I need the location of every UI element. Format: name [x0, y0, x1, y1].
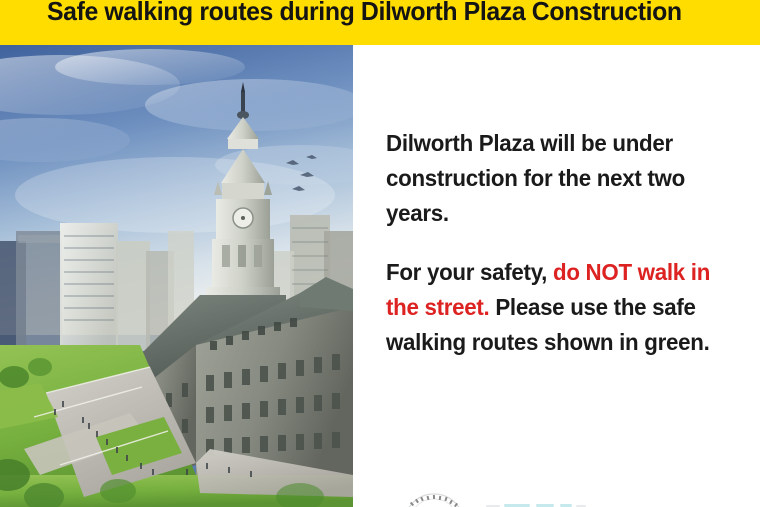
paragraph-safety-notice: For your safety, do NOT walk in the stre…: [386, 255, 721, 360]
city-of-philadelphia-seal: [386, 486, 716, 507]
dilworth-plaza-rendering: [0, 45, 353, 507]
page-title: Safe walking routes during Dilworth Plaz…: [47, 0, 682, 27]
safety-lead-in: For your safety,: [386, 259, 553, 285]
poster-root: Safe walking routes during Dilworth Plaz…: [0, 0, 760, 507]
footer-logo-strip: [386, 486, 716, 507]
paragraph-construction-notice: Dilworth Plaza will be under constructio…: [386, 126, 721, 231]
paragraph-1-text: Dilworth Plaza will be under constructio…: [386, 130, 685, 226]
rendering-illustration: [0, 45, 353, 507]
header-banner: Safe walking routes during Dilworth Plaz…: [0, 0, 760, 45]
body-text-column: Dilworth Plaza will be under constructio…: [386, 126, 731, 360]
